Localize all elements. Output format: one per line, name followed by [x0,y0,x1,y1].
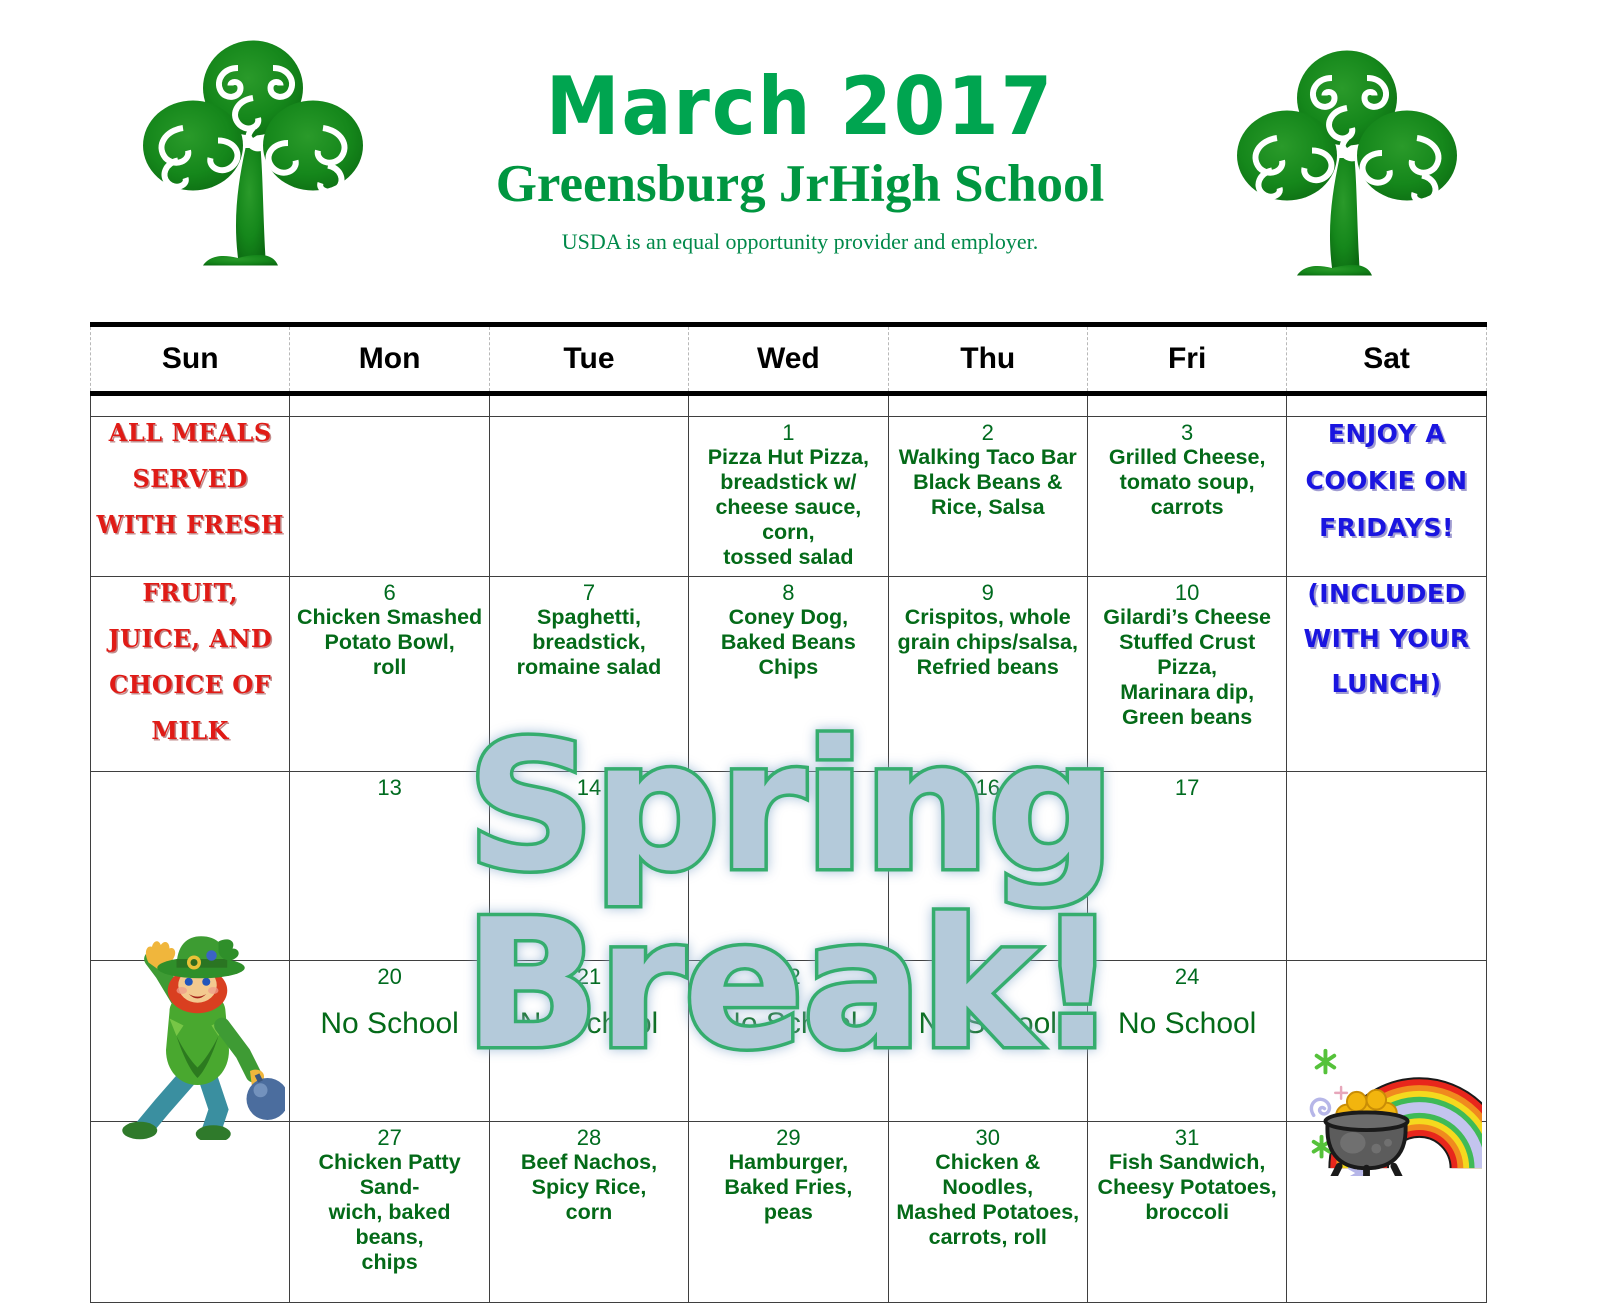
spacer-row [91,394,1487,417]
saturday-note-line: WITH YOUR [1290,626,1482,651]
day-menu: Crispitos, whole grain chips/salsa, Refr… [892,605,1084,680]
school-name: Greensburg JrHigh School [330,158,1270,211]
day-number: 6 [293,581,485,604]
day-number: 23 [892,965,1084,988]
weekday-header-thu: Thu [888,325,1087,394]
day-menu: No School [892,1006,1084,1042]
day-cell[interactable]: 8 Coney Dog, Baked Beans Chips [689,576,888,771]
menu-calendar: Sun Mon Tue Wed Thu Fri Sat ALL MEALS SE… [90,322,1487,1303]
sunday-note-line: WITH FRESH [94,513,286,537]
day-cell[interactable]: 7 Spaghetti, breadstick, romaine salad [489,576,688,771]
day-cell[interactable]: 24 No School [1087,960,1286,1121]
day-cell[interactable]: 17 [1087,771,1286,960]
day-menu: Hamburger, Baked Fries, peas [692,1150,884,1225]
weekday-header-mon: Mon [290,325,489,394]
usda-disclaimer: USDA is an equal opportunity provider an… [330,229,1270,255]
day-cell[interactable]: 30 Chicken & Noodles, Mashed Potatoes, c… [888,1121,1087,1302]
leprechaun-icon [110,925,285,1140]
day-menu: No School [493,1006,685,1042]
sunday-note-cell: ALL MEALS SERVED WITH FRESH [91,417,290,577]
saturday-note-cell: ENJOY A COOKIE ON FRIDAYS! [1287,417,1486,577]
day-cell[interactable]: 20 No School [290,960,489,1121]
day-menu: Chicken Smashed Potato Bowl, roll [293,605,485,680]
day-number: 13 [293,776,485,799]
day-menu: Chicken & Noodles, Mashed Potatoes, carr… [892,1150,1084,1250]
page-title: March 2017 [330,67,1270,147]
day-menu: Gilardi’s Cheese Stuffed Crust Pizza, Ma… [1091,605,1283,730]
day-cell[interactable]: 27 Chicken Patty Sand- wich, baked beans… [290,1121,489,1302]
spacer-cell [290,394,489,417]
spacer-cell [689,394,888,417]
day-number: 31 [1091,1126,1283,1149]
day-menu: No School [692,1006,884,1042]
day-cell[interactable]: 16 [888,771,1087,960]
weekday-header-sun: Sun [91,325,290,394]
day-number: 27 [293,1126,485,1149]
day-cell[interactable] [489,417,688,577]
spacer-cell [888,394,1087,417]
spacer-cell [1087,394,1286,417]
saturday-note-cell: (INCLUDED WITH YOUR LUNCH) [1287,576,1486,771]
day-menu: Grilled Cheese, tomato soup, carrots [1091,445,1283,520]
weekday-header-tue: Tue [489,325,688,394]
day-number: 14 [493,776,685,799]
saturday-note-line: FRIDAYS! [1290,515,1482,540]
day-menu: Fish Sandwich, Cheesy Potatoes, broccoli [1091,1150,1283,1225]
sunday-note-line: SERVED [94,467,286,491]
day-number: 7 [493,581,685,604]
day-cell[interactable]: 6 Chicken Smashed Potato Bowl, roll [290,576,489,771]
calendar-week-row: 27 Chicken Patty Sand- wich, baked beans… [91,1121,1487,1302]
sunday-note-line: JUICE, AND [94,627,286,651]
saturday-note-line: (INCLUDED [1290,581,1482,606]
day-cell[interactable]: 28 Beef Nachos, Spicy Rice, corn [489,1121,688,1302]
rainbow-pot-of-gold-icon [1296,1000,1482,1176]
day-number: 15 [692,776,884,799]
spacer-cell [91,394,290,417]
day-cell[interactable]: 1 Pizza Hut Pizza, breadstick w/ cheese … [689,417,888,577]
day-cell[interactable]: 14 [489,771,688,960]
day-cell[interactable]: 10 Gilardi’s Cheese Stuffed Crust Pizza,… [1087,576,1286,771]
weekday-header-wed: Wed [689,325,888,394]
day-number: 29 [692,1126,884,1149]
day-cell[interactable]: 22 No School [689,960,888,1121]
saturday-note-line: ENJOY A [1290,421,1482,446]
day-number: 22 [692,965,884,988]
calendar-week-row: FRUIT, JUICE, AND CHOICE OF MILK 6 Chick… [91,576,1487,771]
day-number: 21 [493,965,685,988]
day-menu: No School [293,1006,485,1042]
day-cell[interactable]: 3 Grilled Cheese, tomato soup, carrots [1087,417,1286,577]
day-cell[interactable]: 23 No School [888,960,1087,1121]
day-menu: Chicken Patty Sand- wich, baked beans, c… [293,1150,485,1275]
day-number: 1 [692,421,884,444]
spacer-cell [489,394,688,417]
saturday-note-line: COOKIE ON [1290,468,1482,493]
day-menu: Pizza Hut Pizza, breadstick w/ cheese sa… [692,445,884,570]
day-cell[interactable]: 31 Fish Sandwich, Cheesy Potatoes, brocc… [1087,1121,1286,1302]
day-cell[interactable]: 15 [689,771,888,960]
day-menu: Beef Nachos, Spicy Rice, corn [493,1150,685,1225]
saturday-note-line: LUNCH) [1290,671,1482,696]
sunday-note-line: CHOICE OF [94,673,286,697]
day-number: 8 [692,581,884,604]
day-cell[interactable]: 2 Walking Taco Bar Black Beans & Rice, S… [888,417,1087,577]
day-cell[interactable]: 21 No School [489,960,688,1121]
day-number: 20 [293,965,485,988]
weekday-header-fri: Fri [1087,325,1286,394]
day-cell [91,1121,290,1302]
day-menu: No School [1091,1006,1283,1042]
page-header: March 2017 Greensburg JrHigh School USDA… [0,0,1600,300]
day-number: 9 [892,581,1084,604]
sunday-note-line: FRUIT, [94,581,286,605]
day-number: 30 [892,1126,1084,1149]
shamrock-icon [1222,38,1472,288]
day-cell [1287,771,1486,960]
weekday-header-sat: Sat [1287,325,1486,394]
title-block: March 2017 Greensburg JrHigh School USDA… [330,70,1270,255]
sunday-note-line: MILK [94,719,286,743]
day-cell[interactable]: 9 Crispitos, whole grain chips/salsa, Re… [888,576,1087,771]
weekday-header-row: Sun Mon Tue Wed Thu Fri Sat [91,325,1487,394]
day-number: 17 [1091,776,1283,799]
day-menu: Spaghetti, breadstick, romaine salad [493,605,685,680]
day-number: 2 [892,421,1084,444]
calendar-week-row: 13 14 15 16 17 [91,771,1487,960]
calendar-week-row: 20 No School 21 No School 22 No School 2… [91,960,1487,1121]
day-cell[interactable]: 29 Hamburger, Baked Fries, peas [689,1121,888,1302]
day-cell[interactable] [290,417,489,577]
day-number: 3 [1091,421,1283,444]
calendar-week-row: ALL MEALS SERVED WITH FRESH 1 Pizza Hut … [91,417,1487,577]
spacer-cell [1287,394,1486,417]
day-number: 28 [493,1126,685,1149]
sunday-note-cell: FRUIT, JUICE, AND CHOICE OF MILK [91,576,290,771]
day-cell[interactable]: 13 [290,771,489,960]
day-number: 16 [892,776,1084,799]
day-menu: Walking Taco Bar Black Beans & Rice, Sal… [892,445,1084,520]
day-number: 24 [1091,965,1283,988]
sunday-note-line: ALL MEALS [94,421,286,445]
day-menu: Coney Dog, Baked Beans Chips [692,605,884,680]
day-number: 10 [1091,581,1283,604]
